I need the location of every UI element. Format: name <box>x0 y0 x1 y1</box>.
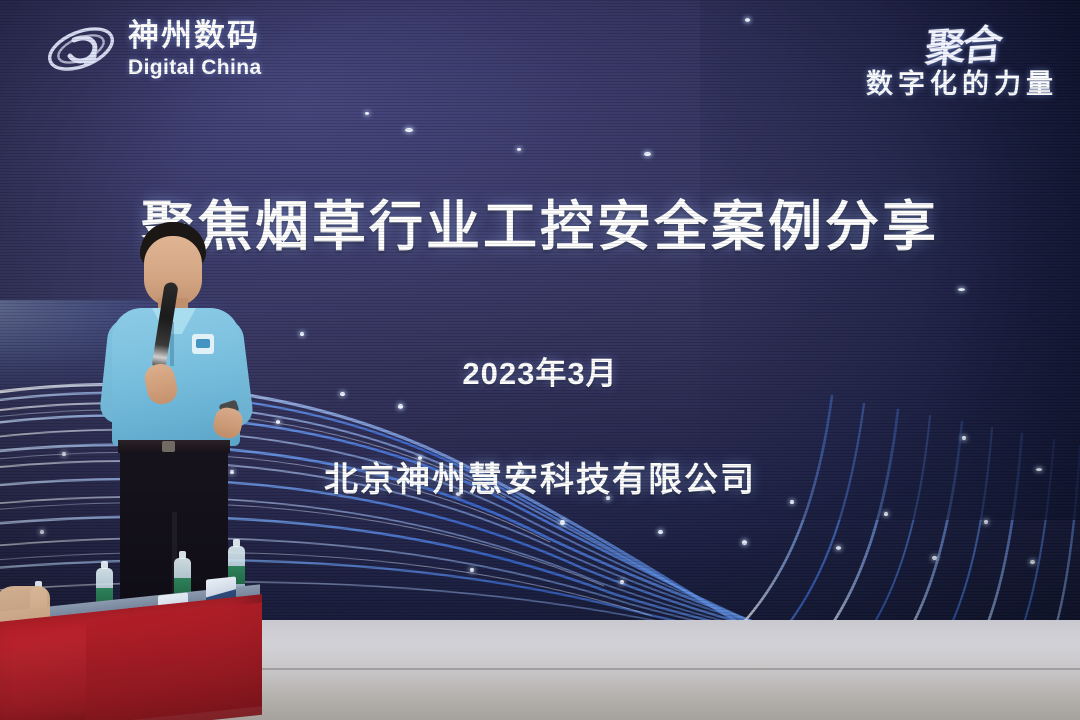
table-cloth-fold <box>86 603 262 720</box>
digital-china-swirl-icon <box>44 18 118 80</box>
conference-stage-photo: 神州数码 Digital China 聚合 数字化的力量 聚焦烟草行业工控安全案… <box>0 0 1080 720</box>
event-calligraphy: 聚合 <box>923 11 1003 74</box>
digital-china-logo: 神州数码 Digital China <box>44 18 262 80</box>
brand-name-en: Digital China <box>128 57 262 78</box>
event-brand-logo: 聚合 数字化的力量 <box>808 14 1058 101</box>
digital-china-wordmark: 神州数码 Digital China <box>128 20 262 78</box>
speaker-shirt-logo <box>192 334 214 354</box>
brand-name-cn: 神州数码 <box>128 20 262 51</box>
speaker-belt-buckle <box>162 441 175 452</box>
foreground-table <box>0 560 270 720</box>
